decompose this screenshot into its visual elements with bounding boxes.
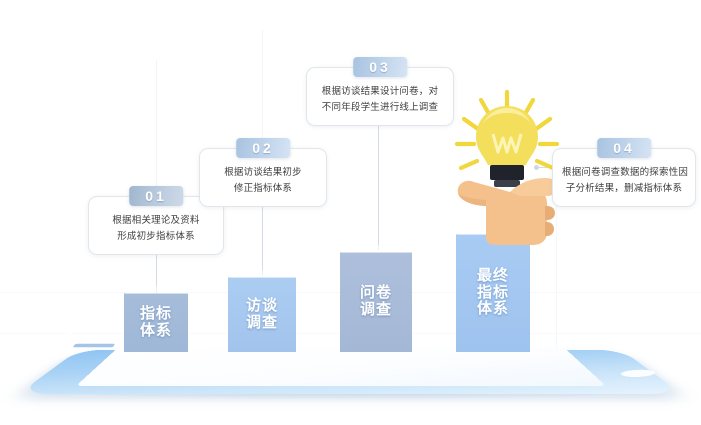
step-badge-01: 01 xyxy=(129,186,183,206)
infographic-canvas: 指标 体系 访谈 调查 问卷 调查 最终 指标 体系 xyxy=(0,0,701,425)
lightbulb-base-icon xyxy=(490,165,524,180)
card-text-line: 根据访谈结果初步 xyxy=(209,165,317,181)
hand-with-lightbulb-illustration xyxy=(448,86,566,246)
bar-label-line: 指标 xyxy=(140,306,172,323)
bar-label-line: 最终 xyxy=(477,268,509,285)
hand-knuckle-icon xyxy=(545,222,554,236)
lightbulb-screw-icon xyxy=(494,180,520,187)
step-badge-02: 02 xyxy=(236,138,290,158)
bar-label-line: 调查 xyxy=(360,302,392,319)
card-text-line: 根据访谈结果设计问卷，对 xyxy=(316,84,444,100)
callout-card-2[interactable]: 02 根据访谈结果初步 修正指标体系 xyxy=(199,148,327,207)
phone-speaker-icon xyxy=(63,326,78,340)
lightbulb-glass-icon xyxy=(476,106,538,165)
phone-screen-badge xyxy=(73,344,116,348)
card-text-line: 修正指标体系 xyxy=(209,181,317,197)
bar-step-4: 最终 指标 体系 xyxy=(456,234,530,352)
bar-step-2: 访谈 调查 xyxy=(228,277,296,352)
bar-top-face xyxy=(340,245,419,253)
bar-label-line: 访谈 xyxy=(246,298,278,315)
callout-card-4[interactable]: 04 根据问卷调查数据的探索性因 子分析结果，删减指标体系 xyxy=(552,148,696,207)
step-badge-03: 03 xyxy=(353,57,407,77)
card-text-line: 子分析结果，删减指标体系 xyxy=(562,181,686,197)
bar-label-line: 调查 xyxy=(246,315,278,332)
card-text-line: 根据问卷调查数据的探索性因 xyxy=(562,165,686,181)
step-badge-04: 04 xyxy=(597,138,651,158)
bar-label-line: 体系 xyxy=(477,301,509,318)
phone-camera-icon xyxy=(64,302,70,308)
bar-step-1: 指标 体系 xyxy=(124,293,188,352)
bar-top-face xyxy=(124,286,195,294)
connector-line-3 xyxy=(378,118,379,250)
phone-screen xyxy=(76,347,606,386)
card-text-line: 形成初步指标体系 xyxy=(98,229,214,245)
hand-knuckle-icon xyxy=(545,206,555,220)
bar-label-line: 问卷 xyxy=(360,285,392,302)
callout-card-3[interactable]: 03 根据访谈结果设计问卷，对 不同年段学生进行线上调查 xyxy=(306,67,454,126)
bar-label-line: 体系 xyxy=(140,323,172,340)
bar-top-face xyxy=(228,270,303,278)
card-text-line: 根据相关理论及资料 xyxy=(98,213,214,229)
lightbulb-hand-svg xyxy=(448,86,566,246)
card-text-line: 不同年段学生进行线上调查 xyxy=(316,100,444,116)
bar-step-3: 问卷 调查 xyxy=(340,252,412,352)
bar-label-line: 指标 xyxy=(477,285,509,302)
